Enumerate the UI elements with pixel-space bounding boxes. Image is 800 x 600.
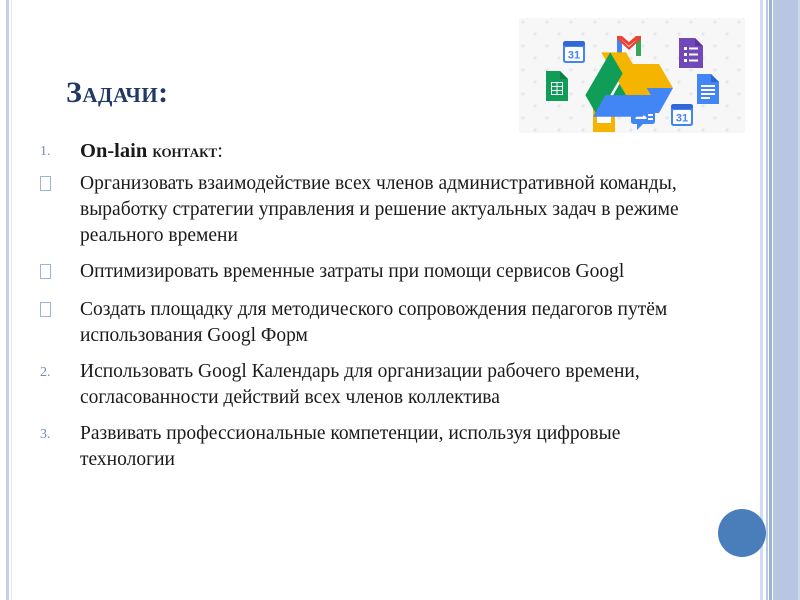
list-item: 2. Использовать Googl Календарь для орга… xyxy=(32,359,692,411)
google-docs-icon xyxy=(697,74,719,104)
list-item-text-tail: : xyxy=(217,140,223,162)
google-sheets-icon xyxy=(546,71,568,101)
slide-title: Задачи: xyxy=(66,76,169,110)
list-marker-box xyxy=(32,171,80,199)
left-border-accent xyxy=(6,0,9,600)
google-calendar-icon-2: 31 xyxy=(671,104,693,126)
google-forms-icon xyxy=(679,38,703,68)
list-marker-number: 3. xyxy=(32,421,80,448)
decorative-corner-circle xyxy=(718,509,766,557)
google-drive-logo-shape xyxy=(585,52,655,116)
empty-box-bullet-icon xyxy=(40,264,51,279)
svg-text:31: 31 xyxy=(568,50,580,62)
presentation-slide: Задачи: 31 xyxy=(0,0,800,600)
list-item-text: Развивать профессиональные компетенции, … xyxy=(80,421,692,473)
list-item-text: Оптимизировать временные затраты при пом… xyxy=(80,259,692,285)
empty-box-bullet-icon xyxy=(40,302,51,317)
list-item-text: Использовать Googl Календарь для организ… xyxy=(80,359,692,411)
slide-body-list: 1. On-lain контакт: Организовать взаимод… xyxy=(32,138,692,480)
list-marker-number: 1. xyxy=(32,138,80,165)
list-item: 3. Развивать профессиональные компетенци… xyxy=(32,421,692,473)
list-item: Оптимизировать временные затраты при пом… xyxy=(32,259,692,287)
list-item-text-latin: On-lain xyxy=(80,140,147,162)
right-border-band-2 xyxy=(766,0,768,600)
list-item-text: Создать площадку для методического сопро… xyxy=(80,297,692,349)
list-item: Организовать взаимодействие всех членов … xyxy=(32,171,692,249)
list-item: 1. On-lain контакт: xyxy=(32,138,692,165)
list-marker-box xyxy=(32,297,80,325)
list-item-text: Организовать взаимодействие всех членов … xyxy=(80,171,692,249)
google-drive-ecosystem-image: 31 xyxy=(519,18,745,133)
svg-text:31: 31 xyxy=(676,113,688,125)
list-item-text-smallcaps: контакт xyxy=(152,141,217,162)
list-item-text: On-lain контакт: xyxy=(80,138,692,165)
google-calendar-icon: 31 xyxy=(563,41,585,63)
list-marker-box xyxy=(32,259,80,287)
left-border-hairline xyxy=(11,0,12,600)
list-item: Создать площадку для методического сопро… xyxy=(32,297,692,349)
empty-box-bullet-icon xyxy=(40,176,51,191)
right-border-band-3 xyxy=(769,0,772,600)
right-border-band-4 xyxy=(773,0,800,600)
right-border-band-1 xyxy=(760,0,763,600)
list-marker-number: 2. xyxy=(32,359,80,386)
